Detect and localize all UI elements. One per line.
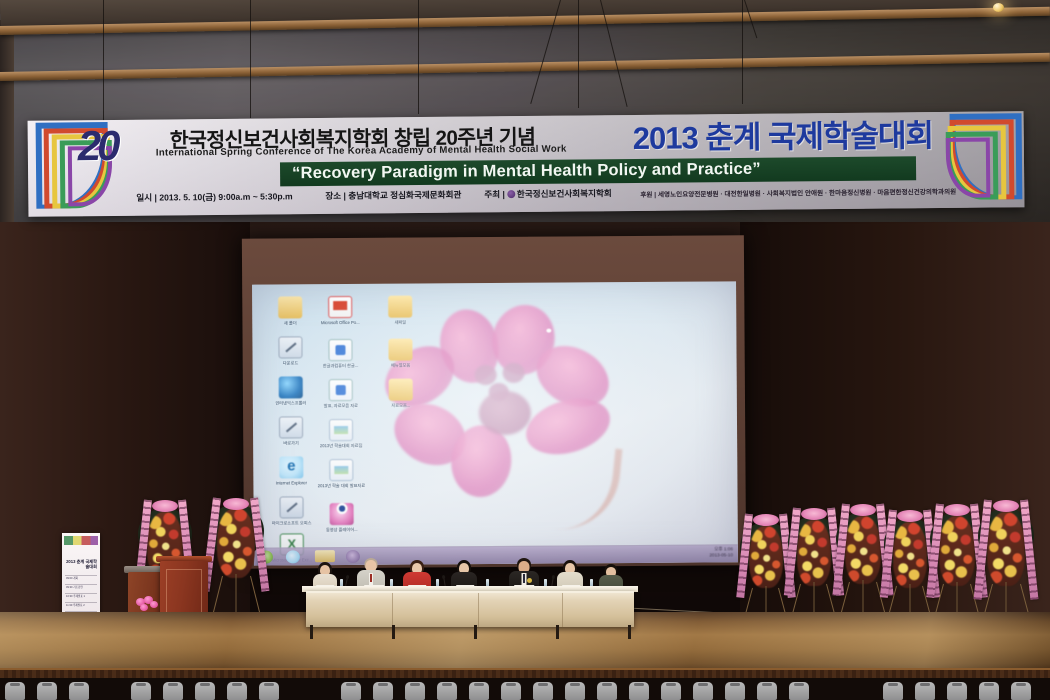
desktop-icon[interactable]: Microsoft Office Po... bbox=[314, 296, 366, 325]
image-file-icon bbox=[329, 419, 353, 441]
desktop-icon-label: 한글과컴퓨터 한글... bbox=[315, 363, 367, 368]
desktop-icon[interactable]: 새 폴더 bbox=[264, 296, 316, 325]
desktop-icon-label: Microsoft Office Po... bbox=[314, 320, 366, 325]
rigging-cable bbox=[578, 0, 579, 108]
media-player-icon bbox=[330, 503, 354, 525]
desktop-icon-label: Internet Explorer bbox=[265, 480, 317, 485]
tool-icon bbox=[278, 336, 302, 358]
desktop-icon[interactable]: 발표, 자료모음 자료 bbox=[315, 379, 367, 408]
conference-banner: 20 한국정신보건사회복지학회 창립 20주년 기념 International… bbox=[28, 111, 1025, 217]
banner-host-label: 주최 | bbox=[484, 189, 505, 199]
audience-seat bbox=[256, 680, 282, 700]
desktop-icon-label: 다운로드 bbox=[265, 360, 317, 365]
audience-seat bbox=[594, 680, 620, 700]
tool-icon bbox=[280, 496, 304, 518]
table-leg bbox=[628, 625, 631, 639]
desktop-icon[interactable]: Internet Explorer bbox=[265, 456, 317, 485]
audience-seat bbox=[912, 680, 938, 700]
rollup-title: 2013 춘계 국제학술대회 bbox=[66, 559, 97, 569]
internet-explorer-icon[interactable] bbox=[286, 550, 300, 563]
audience-seat bbox=[944, 680, 970, 700]
flower-highlight bbox=[546, 329, 551, 333]
audience-seat bbox=[1008, 680, 1034, 700]
folder-icon bbox=[278, 296, 302, 318]
audience-seat bbox=[224, 680, 250, 700]
audience-seat bbox=[786, 680, 812, 700]
image-file-icon bbox=[329, 459, 353, 481]
desktop-icon-label: 바로가기 bbox=[265, 440, 317, 445]
banner-theme-band: “Recovery Paradigm in Mental Health Poli… bbox=[280, 156, 916, 186]
desktop-icon[interactable]: 2013년 학술대회 자료집 bbox=[315, 419, 367, 448]
audience-seat bbox=[722, 680, 748, 700]
hangul-doc-icon bbox=[329, 379, 353, 401]
desktop-icon[interactable]: 자료모음... bbox=[375, 378, 427, 407]
desktop-icon[interactable]: 마이크로소프트 오피스 bbox=[266, 496, 318, 525]
banner-place-line: 장소 | 충남대학교 정심화국제문화회관 bbox=[325, 189, 461, 202]
folder-icon bbox=[388, 339, 412, 361]
spot-light-icon bbox=[993, 3, 1004, 12]
audience-seat bbox=[530, 680, 556, 700]
desktop-icon[interactable]: 메뉴얼모음 bbox=[374, 338, 426, 367]
table-leg bbox=[310, 625, 313, 639]
flower-stem bbox=[519, 440, 622, 535]
desktop-icon-label: 동영상 플레이어... bbox=[316, 527, 368, 532]
powerpoint-icon bbox=[328, 296, 352, 318]
desktop-icon[interactable]: 한글과컴퓨터 한글... bbox=[314, 339, 366, 368]
tool-icon bbox=[279, 416, 303, 438]
audience-seat bbox=[690, 680, 716, 700]
audience-seat bbox=[2, 680, 28, 700]
projection-screen[interactable]: 새 폴더 다운로드 인터넷익스프롤러 바로가기 Internet Explore… bbox=[252, 281, 738, 565]
desktop-icon[interactable]: 인터넷익스프롤러 bbox=[265, 376, 317, 405]
rollup-color-header bbox=[64, 536, 98, 545]
anniversary-logo-number: 20 bbox=[78, 122, 117, 170]
desktop-icon-label: 자료모음... bbox=[375, 402, 427, 407]
audience-seating-front-row bbox=[0, 678, 1050, 700]
clock-date: 2013-05-10 bbox=[709, 552, 733, 558]
table-leg bbox=[474, 625, 477, 639]
banner-host-name: 한국정신보건사회복지학회 bbox=[517, 188, 612, 199]
rigging-cable bbox=[103, 0, 104, 126]
table-leg bbox=[392, 625, 395, 639]
banner-date-line: 일시 | 2013. 5. 10(금) 9:00a.m ~ 5:30p.m bbox=[136, 190, 292, 203]
desktop-icon-label: 새 폴더 bbox=[264, 320, 316, 325]
rigging-cable bbox=[742, 0, 743, 104]
audience-seat bbox=[160, 680, 186, 700]
table-leg bbox=[556, 625, 559, 639]
audience-seat bbox=[880, 680, 906, 700]
audience-seat bbox=[434, 680, 460, 700]
banner-theme-text: “Recovery Paradigm in Mental Health Poli… bbox=[292, 160, 761, 183]
banner-host-line: 주최 |한국정신보건사회복지학회 bbox=[484, 187, 612, 200]
conference-stage-photo: 20 한국정신보건사회복지학회 창립 20주년 기념 International… bbox=[0, 0, 1050, 700]
rigging-cable bbox=[250, 0, 251, 118]
audience-seat bbox=[338, 680, 364, 700]
internet-explorer-icon bbox=[279, 456, 303, 478]
audience-seat bbox=[562, 680, 588, 700]
audience-seat bbox=[402, 680, 428, 700]
windows-explorer-icon[interactable] bbox=[315, 550, 335, 562]
desktop-icon-label: 메뉴얼모음 bbox=[375, 362, 427, 367]
wall-left-column bbox=[0, 20, 14, 230]
banner-korean-headline: 2013 춘계 국제학술대회 bbox=[633, 111, 934, 158]
audience-seat bbox=[128, 680, 154, 700]
desktop-icon-label: 2013년 학술 대회 발표자료 bbox=[315, 483, 367, 488]
audience-seat bbox=[370, 680, 396, 700]
audience-seat bbox=[34, 680, 60, 700]
audience-seat bbox=[498, 680, 524, 700]
globe-icon bbox=[279, 376, 303, 398]
desktop-icon[interactable]: 동영상 플레이어... bbox=[316, 498, 368, 532]
folder-icon bbox=[388, 296, 412, 318]
panel-table bbox=[306, 591, 634, 627]
desktop-icon-label: 새파일 bbox=[374, 319, 426, 324]
audience-seat bbox=[626, 680, 652, 700]
rigging-cable bbox=[418, 0, 419, 114]
audience-seat bbox=[466, 680, 492, 700]
desktop-icon-label: 인터넷익스프롤러 bbox=[265, 400, 317, 405]
desktop-icon[interactable]: 새파일 bbox=[374, 295, 426, 324]
desktop-icon-label: 마이크로소프트 오피스 bbox=[266, 520, 318, 525]
folder-icon bbox=[389, 379, 413, 401]
desktop-icon[interactable]: 바로가기 bbox=[265, 416, 317, 445]
desktop-icon-label: 발표, 자료모음 자료 bbox=[315, 403, 367, 408]
audience-seat bbox=[976, 680, 1002, 700]
hangul-doc-icon bbox=[328, 339, 352, 361]
desktop-icon-label: 2013년 학술대회 자료집 bbox=[315, 443, 367, 448]
taskbar-clock[interactable]: 오후 1:06 2013-05-10 bbox=[709, 546, 733, 558]
society-emblem-icon bbox=[507, 190, 515, 198]
audience-seat bbox=[658, 680, 684, 700]
audience-seat bbox=[66, 680, 92, 700]
audience-seat bbox=[192, 680, 218, 700]
audience-seat bbox=[754, 680, 780, 700]
desktop-icon[interactable]: 다운로드 bbox=[264, 336, 316, 365]
desktop-icon[interactable]: 2013년 학술 대회 발표자료 bbox=[315, 459, 367, 488]
